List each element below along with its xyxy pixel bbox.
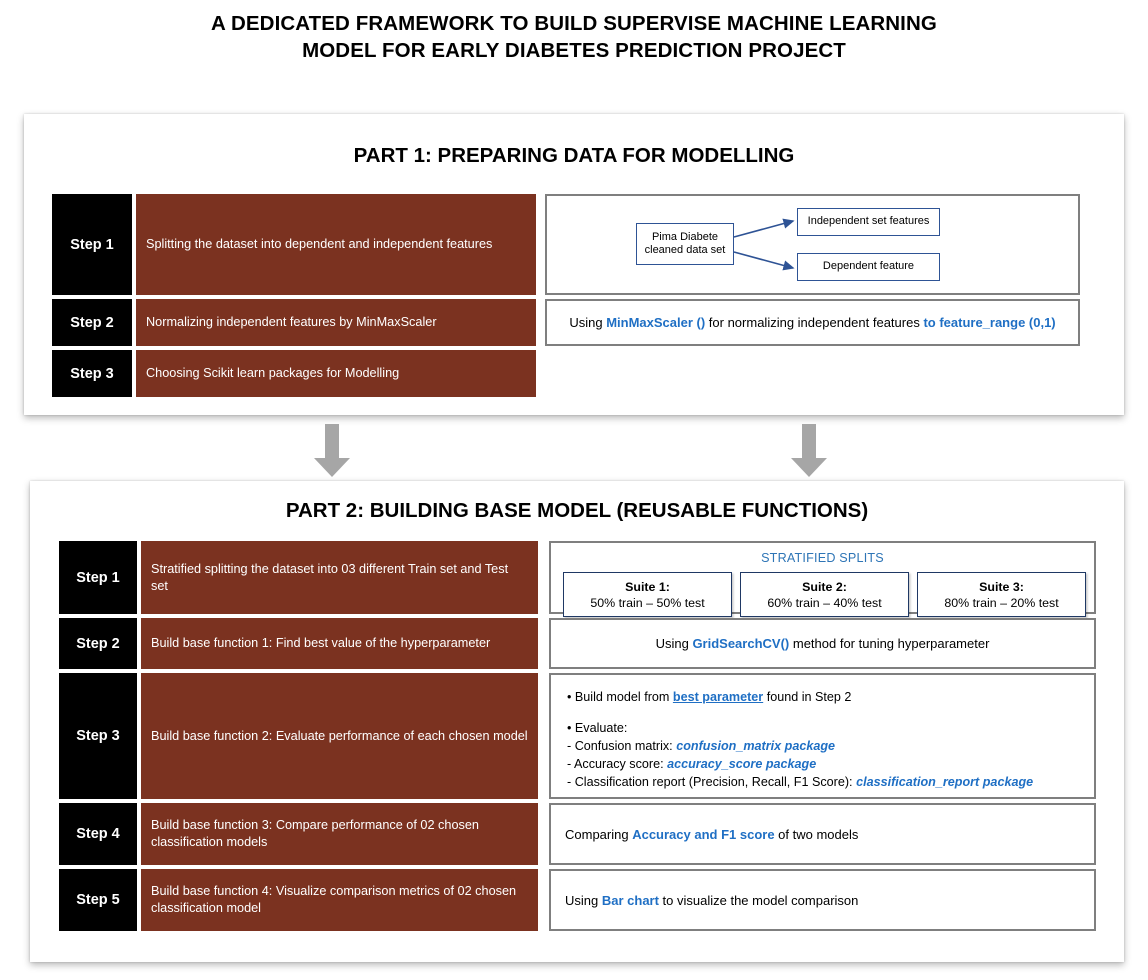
diagram-source-line2: cleaned data set [645, 244, 726, 256]
part1-step2-badge: Step 2 [52, 299, 132, 346]
part2-step5-panel: Using Bar chart to visualize the model c… [549, 869, 1096, 931]
page-title-line2: MODEL FOR EARLY DIABETES PREDICTION PROJ… [0, 37, 1148, 64]
part1-step2-desc: Normalizing independent features by MinM… [136, 299, 536, 346]
suite-3-name: Suite 3: [979, 579, 1024, 595]
part1-step3-badge: Step 3 [52, 350, 132, 397]
page-title: A DEDICATED FRAMEWORK TO BUILD SUPERVISE… [0, 10, 1148, 64]
part2-splits-panel: STRATIFIED SPLITS Suite 1: 50% train – 5… [549, 541, 1096, 614]
diagram-target-independent: Independent set features [797, 208, 940, 236]
suite-1-value: 50% train – 50% test [590, 595, 704, 611]
part2-step5-chart: Bar chart [602, 893, 659, 908]
diagram-target-dependent: Dependent feature [797, 253, 940, 281]
confusion-package: confusion_matrix package [676, 739, 835, 753]
part1-diagram: Pima Diabete cleaned data set Independen… [547, 196, 1078, 293]
part1-card: PART 1: PREPARING DATA FOR MODELLING Ste… [24, 114, 1124, 415]
part1-step3-desc: Choosing Scikit learn packages for Model… [136, 350, 536, 397]
part1-step2-code: MinMaxScaler () [606, 315, 705, 330]
confusion-label: - Confusion matrix: [567, 739, 676, 753]
part1-step2-text1: Using [569, 315, 606, 330]
suite-2-name: Suite 2: [802, 579, 847, 595]
part2-step1-desc: Stratified splitting the dataset into 03… [141, 541, 538, 614]
eval-accuracy-score: - Accuracy score: accuracy_score package [567, 755, 1033, 773]
part2-card: PART 2: BUILDING BASE MODEL (REUSABLE FU… [30, 481, 1124, 962]
part2-step3-desc: Build base function 2: Evaluate performa… [141, 673, 538, 799]
suite-box-1: Suite 1: 50% train – 50% test [563, 572, 732, 617]
part2-step4-panel: Comparing Accuracy and F1 score of two m… [549, 803, 1096, 865]
part2-step4-badge: Step 4 [59, 803, 137, 865]
splits-title: STRATIFIED SPLITS [551, 551, 1094, 565]
part2-step1-badge: Step 1 [59, 541, 137, 614]
part2-step2-panel: Using GridSearchCV() method for tuning h… [549, 618, 1096, 669]
part1-step2-range: to feature_range (0,1) [923, 315, 1055, 330]
part2-step3-bullets: • Build model from best parameter found … [567, 688, 1033, 791]
part2-step5-badge: Step 5 [59, 869, 137, 931]
part2-step4-text2: of two models [775, 827, 859, 842]
classification-package: classification_report package [856, 775, 1033, 789]
eval-classification-report: - Classification report (Precision, Reca… [567, 773, 1033, 791]
suite-1-name: Suite 1: [625, 579, 670, 595]
part1-step2-text2: for normalizing independent features [705, 315, 923, 330]
connector-arrow-right [789, 424, 829, 478]
classification-label: - Classification report (Precision, Reca… [567, 775, 856, 789]
part1-step1-badge: Step 1 [52, 194, 132, 295]
diagram-source-box: Pima Diabete cleaned data set [636, 223, 734, 265]
connector-arrow-left [312, 424, 352, 478]
part2-step2-desc: Build base function 1: Find best value o… [141, 618, 538, 669]
suite-box-3: Suite 3: 80% train – 20% test [917, 572, 1086, 617]
suite-box-2: Suite 2: 60% train – 40% test [740, 572, 909, 617]
bullet1-text1: • Build model from [567, 690, 673, 704]
part1-heading: PART 1: PREPARING DATA FOR MODELLING [24, 144, 1124, 168]
flowchart-page: A DEDICATED FRAMEWORK TO BUILD SUPERVISE… [0, 0, 1148, 980]
bullet-build-model: • Build model from best parameter found … [567, 688, 1033, 706]
best-parameter-link[interactable]: best parameter [673, 690, 763, 704]
eval-confusion-matrix: - Confusion matrix: confusion_matrix pac… [567, 737, 1033, 755]
part1-diagram-panel: Pima Diabete cleaned data set Independen… [545, 194, 1080, 295]
part2-step2-text2: method for tuning hyperparameter [789, 636, 989, 651]
suite-3-value: 80% train – 20% test [944, 595, 1058, 611]
part2-step4-text1: Comparing [565, 827, 632, 842]
part2-step2-badge: Step 2 [59, 618, 137, 669]
bullet1-text2: found in Step 2 [763, 690, 851, 704]
accuracy-package: accuracy_score package [667, 757, 816, 771]
part2-step3-badge: Step 3 [59, 673, 137, 799]
part2-step2-code: GridSearchCV() [692, 636, 789, 651]
part2-step5-text2: to visualize the model comparison [659, 893, 858, 908]
part2-step4-desc: Build base function 3: Compare performan… [141, 803, 538, 865]
bullet-evaluate: • Evaluate: [567, 719, 1033, 737]
diagram-source-line1: Pima Diabete [652, 231, 718, 243]
part2-step4-metrics: Accuracy and F1 score [632, 827, 774, 842]
accuracy-label: - Accuracy score: [567, 757, 667, 771]
bullet-spacer [567, 706, 1033, 719]
part2-step5-desc: Build base function 4: Visualize compari… [141, 869, 538, 931]
part2-step5-text1: Using [565, 893, 602, 908]
part1-step2-panel: Using MinMaxScaler () for normalizing in… [545, 299, 1080, 346]
part2-step3-panel: • Build model from best parameter found … [549, 673, 1096, 799]
suite-2-value: 60% train – 40% test [767, 595, 881, 611]
part1-step1-desc: Splitting the dataset into dependent and… [136, 194, 536, 295]
part2-heading: PART 2: BUILDING BASE MODEL (REUSABLE FU… [30, 499, 1124, 523]
page-title-line1: A DEDICATED FRAMEWORK TO BUILD SUPERVISE… [211, 12, 937, 35]
part2-step2-text1: Using [656, 636, 693, 651]
